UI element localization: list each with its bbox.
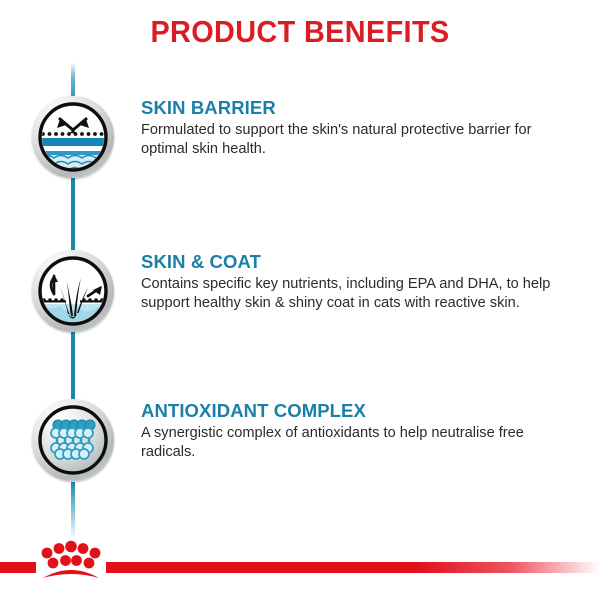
benefit-heading: SKIN BARRIER [141,98,571,119]
benefit-text-block: SKIN & COAT Contains specific key nutrie… [141,252,571,313]
benefit-heading: ANTIOXIDANT COMPLEX [141,401,571,422]
connector-line-segment-1 [71,178,75,258]
skin-and-coat-icon [32,250,114,332]
footer-bar-left [0,562,36,573]
benefit-body: A synergistic complex of antioxidants to… [141,424,571,463]
antioxidant-complex-icon [32,399,114,481]
connector-line-segment-2 [71,332,75,406]
skin-barrier-icon [32,96,114,178]
page-title: PRODUCT BENEFITS [21,14,579,50]
benefit-heading: SKIN & COAT [141,252,571,273]
footer-bar-right [106,562,600,573]
benefit-text-block: ANTIOXIDANT COMPLEX A synergistic comple… [141,401,571,462]
product-benefits-page: PRODUCT BENEFITS [0,0,600,600]
benefit-text-block: SKIN BARRIER Formulated to support the s… [141,98,571,159]
connector-line-bottom [71,482,75,540]
royal-canin-crown-logo [34,540,108,584]
benefit-body: Contains specific key nutrients, includi… [141,275,571,314]
benefit-body: Formulated to support the skin's natural… [141,121,571,160]
